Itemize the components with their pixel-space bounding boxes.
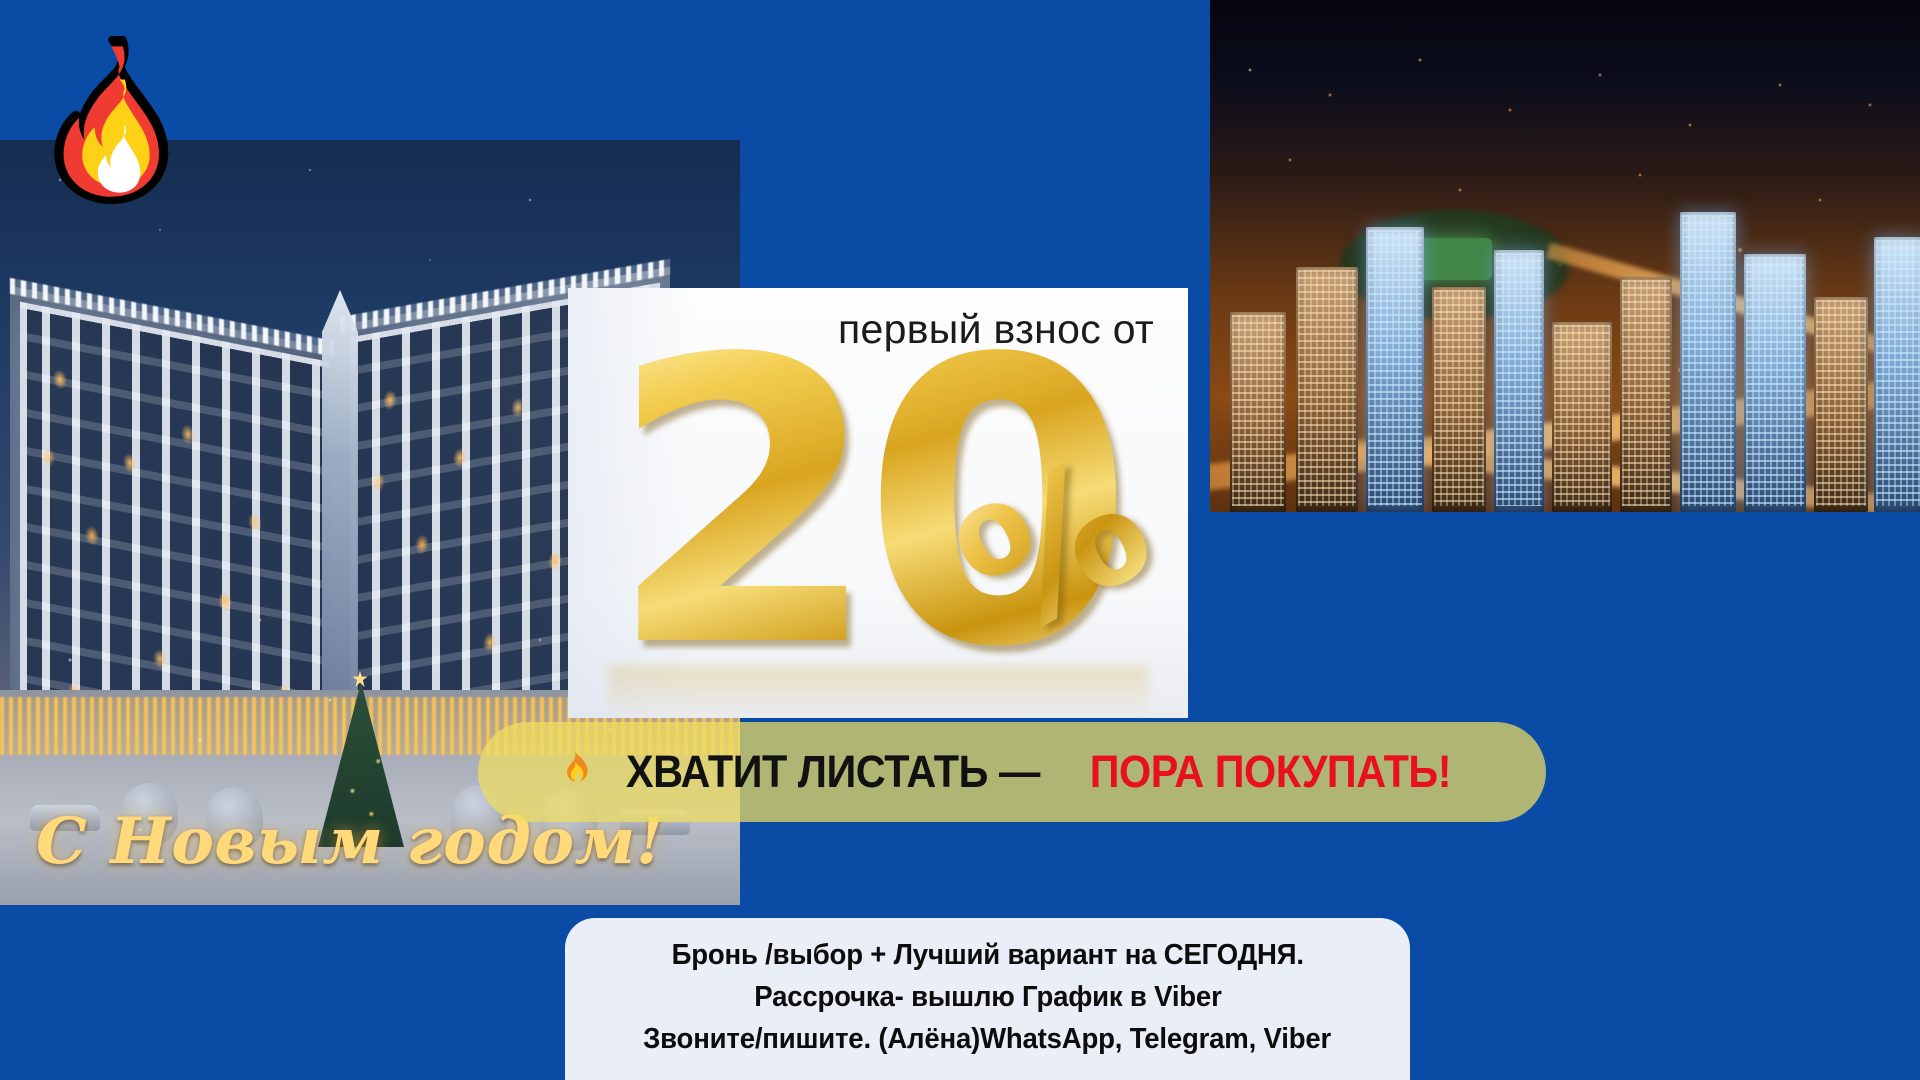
city-tower xyxy=(1874,237,1920,512)
contact-line-3: Звоните/пишите. (Алёна)WhatsApp, Telegra… xyxy=(644,1023,1332,1056)
contact-card[interactable]: Бронь /выбор + Лучший вариант на СЕГОДНЯ… xyxy=(565,918,1410,1080)
city-tower xyxy=(1296,267,1358,512)
city-tower xyxy=(1680,212,1736,512)
offer-card: первый взнос от 20 % xyxy=(568,288,1188,718)
cta-text-primary: ХВАТИТ ЛИСТАТЬ — xyxy=(626,746,1040,798)
contact-line-2: Рассрочка- вышлю График в Viber xyxy=(754,981,1221,1014)
cta-banner[interactable]: ХВАТИТ ЛИСТАТЬ — ПОРА ПОКУПАТЬ! xyxy=(478,722,1546,822)
city-tower xyxy=(1552,322,1612,512)
city-tower xyxy=(1366,227,1424,512)
cta-text-accent: ПОРА ПОКУПАТЬ! xyxy=(1089,746,1450,798)
city-tower xyxy=(1620,277,1672,512)
promo-slide: С Новым годом! первый взнос от 20 % xyxy=(0,0,1920,1080)
city-tower xyxy=(1814,297,1868,512)
gold-number-group: 20 % xyxy=(568,340,1188,718)
city-tower xyxy=(1494,250,1544,512)
contact-line-1: Бронь /выбор + Лучший вариант на СЕГОДНЯ… xyxy=(671,939,1303,972)
fire-emoji xyxy=(50,36,185,204)
city-tower xyxy=(1432,287,1486,512)
night-city-aerial-photo xyxy=(1210,0,1920,512)
city-tower xyxy=(1744,254,1806,512)
gold-reflection xyxy=(608,666,1148,718)
city-tower xyxy=(1230,312,1286,512)
fire-icon xyxy=(558,751,592,793)
